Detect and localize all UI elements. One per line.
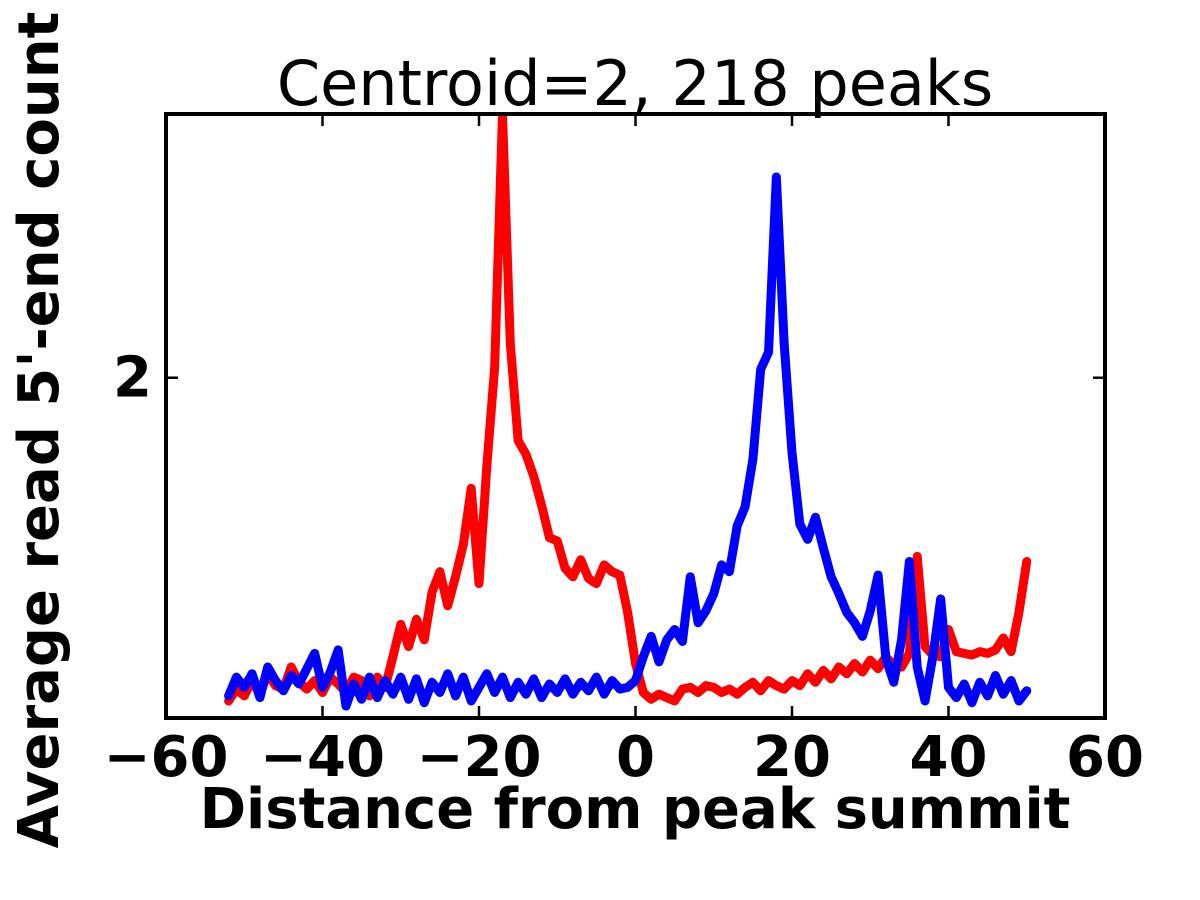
y-tick-label: 2 [113, 346, 152, 411]
chart-title: Centroid=2, 218 peaks [277, 47, 993, 120]
x-tick-label: 60 [1066, 725, 1144, 790]
y-axis-tick-labels: 2 [113, 346, 152, 411]
y-axis-label: Average read 5'-end count [7, 12, 72, 849]
chart-figure: −60−40−200204060 2 Centroid=2, 218 peaks… [0, 0, 1200, 900]
x-axis-label: Distance from peak summit [200, 777, 1071, 842]
plot-canvas: −60−40−200204060 2 Centroid=2, 218 peaks… [0, 0, 1200, 900]
plot-background [166, 114, 1105, 718]
